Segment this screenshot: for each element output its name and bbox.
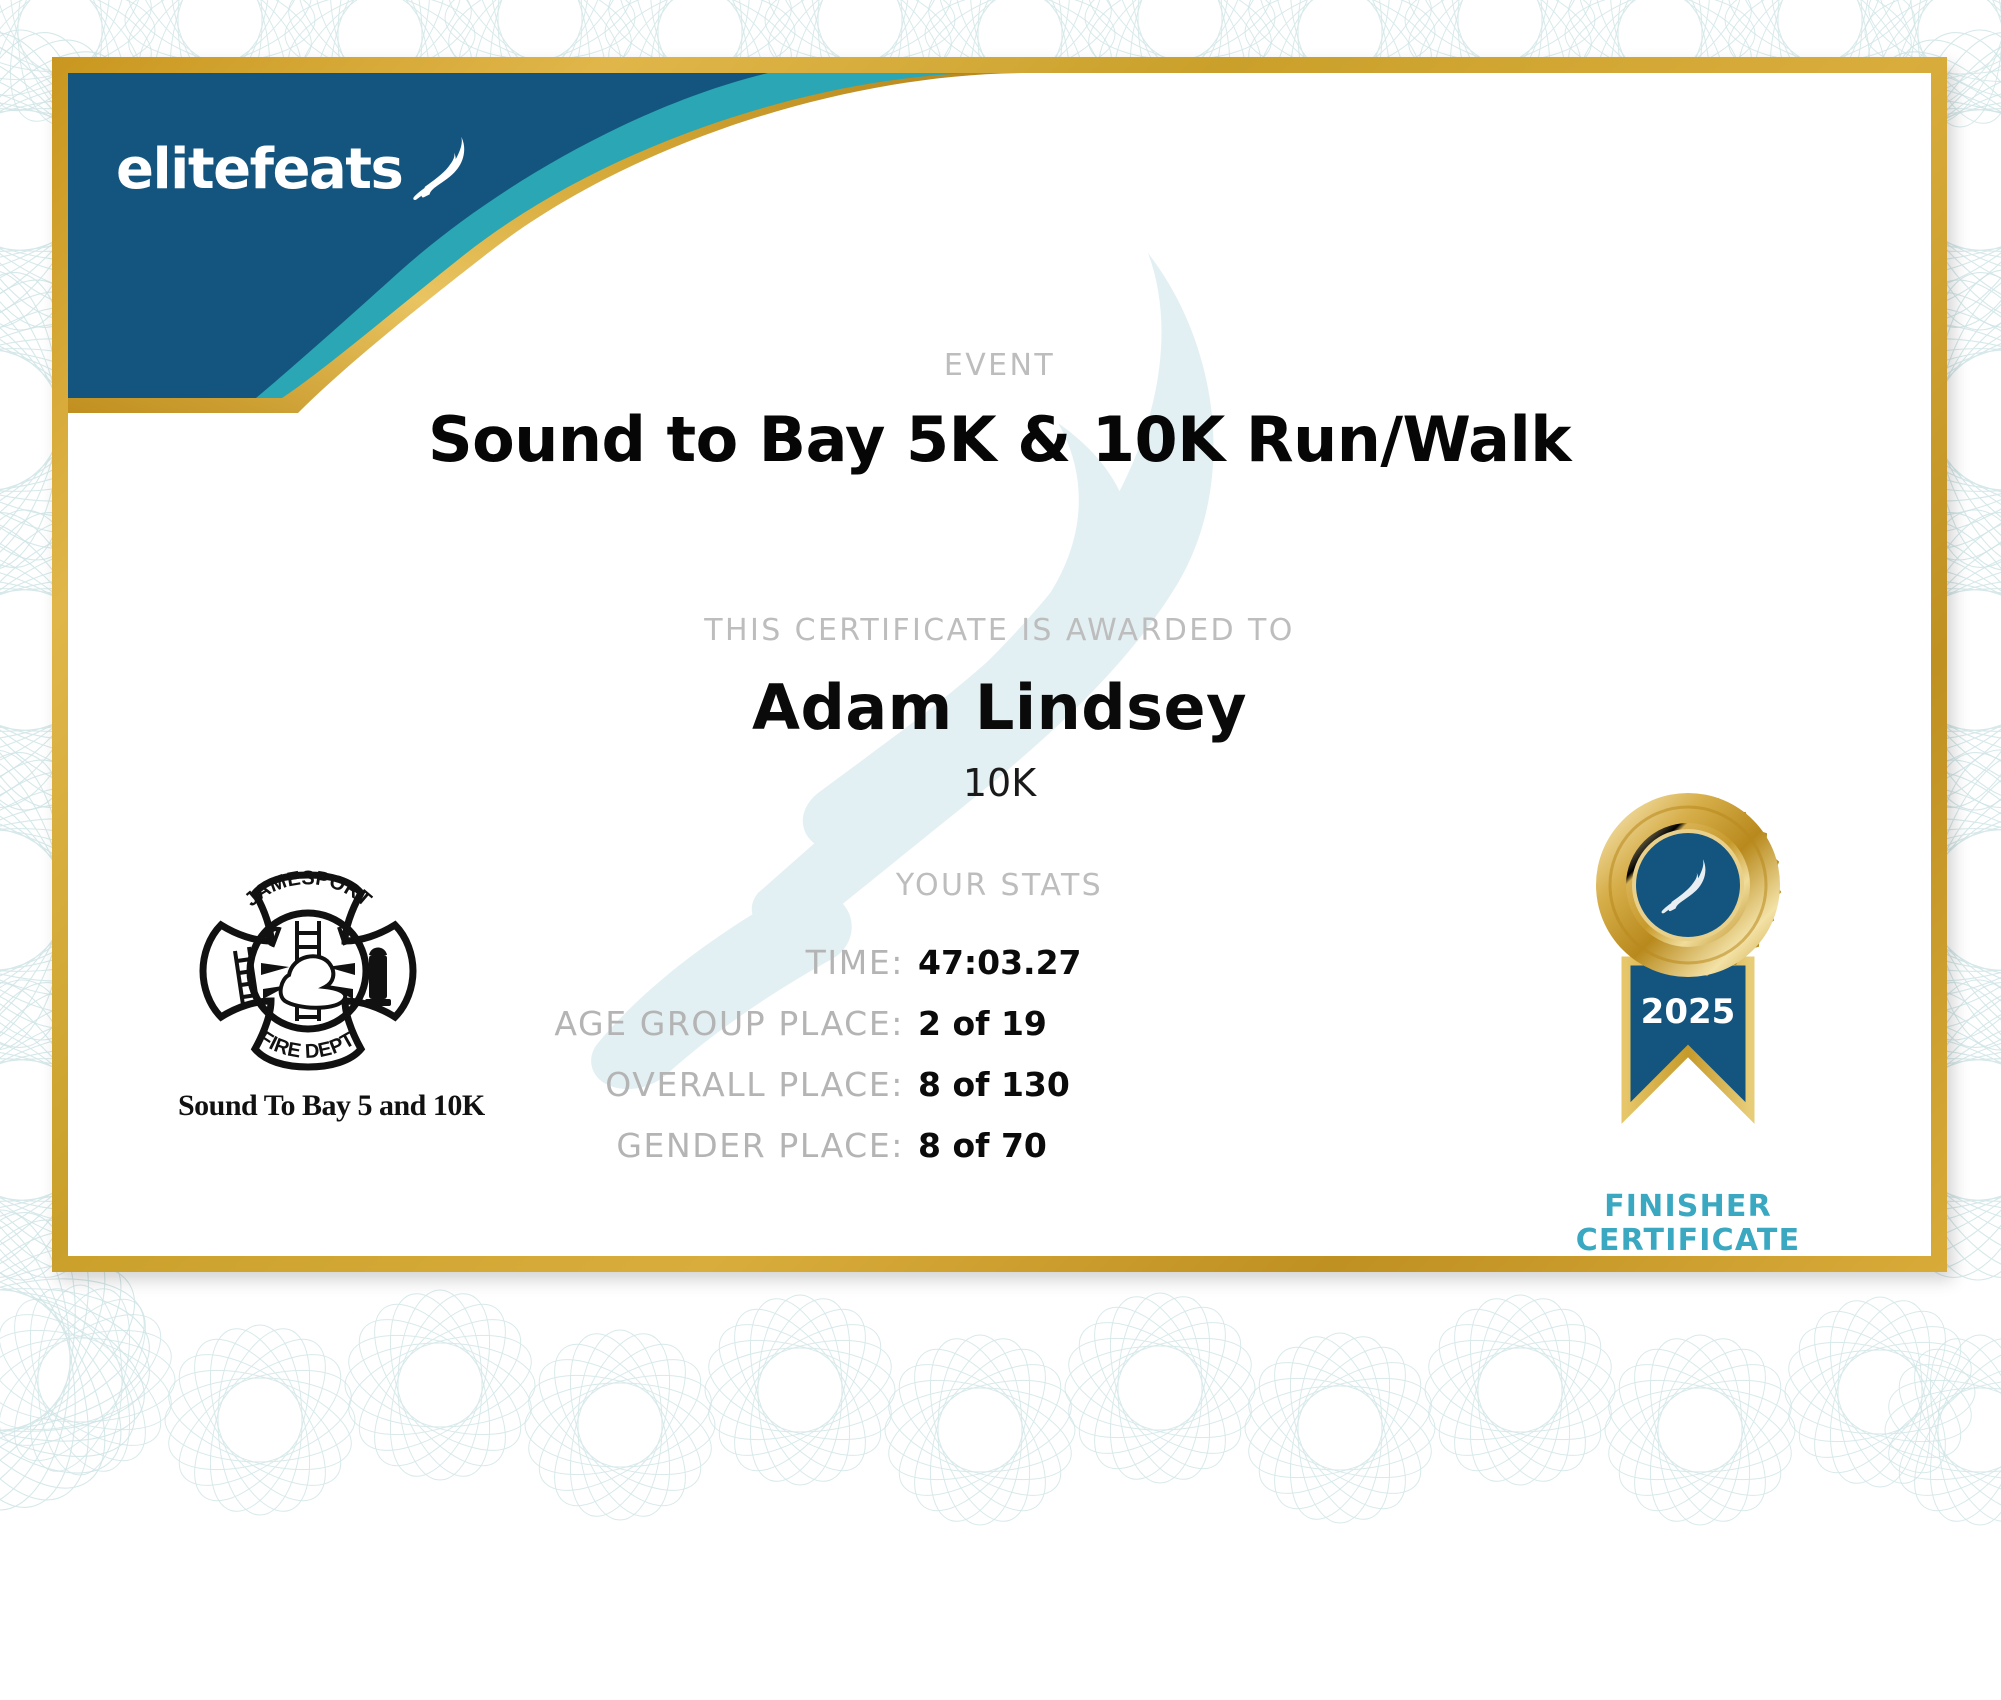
fd-top-text: JAMESPORT	[241, 867, 376, 911]
stat-key-age-group-place: AGE GROUP PLACE:	[554, 1004, 904, 1043]
stat-row: AGE GROUP PLACE: 2 of 19	[368, 1004, 1088, 1043]
winged-foot-medal-icon: 2025	[1538, 1170, 1838, 1187]
certificate-content: EVENT Sound to Bay 5K & 10K Run/Walk THI…	[68, 73, 1931, 1256]
stat-row: GENDER PLACE: 8 of 70	[368, 1126, 1088, 1165]
medal-year-text: 2025	[1641, 992, 1736, 1032]
stat-value-time: 47:03.27	[918, 943, 1088, 982]
medal-caption-line1: FINISHER	[1523, 1190, 1853, 1224]
stat-key-time: TIME:	[806, 943, 904, 982]
svg-text:JAMESPORT: JAMESPORT	[241, 867, 376, 911]
brand-logo: elitefeats	[116, 131, 480, 208]
certificate-gold-border: elitefeats EVENT Sound to Bay 5K & 10K R…	[52, 57, 1947, 1272]
event-label: EVENT	[68, 348, 1931, 383]
stats-table: TIME: 47:03.27 AGE GROUP PLACE: 2 of 19 …	[368, 943, 1088, 1187]
sponsor-logo: JAMESPORT FIRE DEPT.	[178, 863, 438, 1123]
medal-caption: FINISHER CERTIFICATE	[1523, 1190, 1853, 1256]
stat-value-gender-place: 8 of 70	[918, 1126, 1088, 1165]
stat-row: TIME: 47:03.27	[368, 943, 1088, 982]
awarded-to-label: THIS CERTIFICATE IS AWARDED TO	[68, 613, 1931, 648]
medal-caption-line2: CERTIFICATE	[1523, 1224, 1853, 1256]
winged-foot-icon	[408, 131, 480, 208]
certificate-body: elitefeats EVENT Sound to Bay 5K & 10K R…	[68, 73, 1931, 1256]
finisher-medal: 2025	[1523, 783, 1853, 1256]
maltese-cross-icon: JAMESPORT FIRE DEPT.	[193, 1065, 423, 1082]
certificate-page: elitefeats EVENT Sound to Bay 5K & 10K R…	[0, 0, 2001, 1700]
stat-value-age-group-place: 2 of 19	[918, 1004, 1088, 1043]
stat-key-gender-place: GENDER PLACE:	[616, 1126, 904, 1165]
stat-key-overall-place: OVERALL PLACE:	[605, 1065, 904, 1104]
brand-name: elitefeats	[116, 137, 402, 202]
stat-value-overall-place: 8 of 130	[918, 1065, 1088, 1104]
recipient-name: Adam Lindsey	[68, 671, 1931, 744]
sponsor-caption: Sound To Bay 5 and 10K	[178, 1089, 438, 1123]
event-title: Sound to Bay 5K & 10K Run/Walk	[68, 403, 1931, 476]
